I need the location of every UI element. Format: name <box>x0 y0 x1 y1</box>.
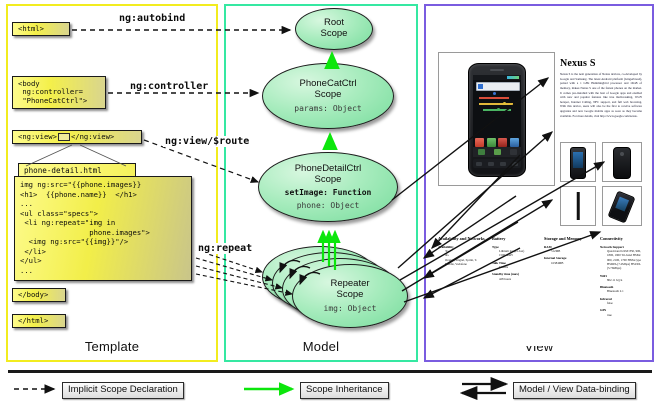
legend-label-databinding: Model / View Data-binding <box>513 382 636 399</box>
spec-value-carriers: Orange, Singtel, Sprint, T-Mobile, Vodaf… <box>445 258 486 267</box>
scope-phonedetailctrl-prop-setimage: setImage: Function <box>285 188 372 197</box>
scope-repeater: Repeater Scope img: Object <box>292 264 408 328</box>
scope-repeater-prop: img: Object <box>324 304 377 313</box>
scope-phonecatctrl-prop: params: Object <box>294 104 361 113</box>
ngview-open-tag: <ng:view> <box>18 132 57 141</box>
thumbnail-angled[interactable] <box>602 186 642 226</box>
label-ng-repeat: ng:repeat <box>196 243 254 254</box>
scope-phonedetailctrl-title-line1: PhoneDetailCtrl <box>295 163 362 174</box>
scope-root-title: Root Scope <box>321 18 348 39</box>
key-search <box>500 162 506 166</box>
phone-detail-card-tab: phone-detail.html <box>18 163 136 177</box>
legend-divider <box>8 370 652 373</box>
key-home <box>512 162 518 166</box>
spec-value-standby: 428 hours <box>499 277 540 281</box>
phone-detail-code: img ng:src="{{phone.images}} <h1> {{phon… <box>14 176 192 281</box>
phone-screen-line-red <box>479 97 509 99</box>
spec-column-connectivity: Connectivity Network Support Quad-band G… <box>600 236 644 317</box>
key-back <box>476 162 482 166</box>
spec-value-infrared: false <box>607 301 644 305</box>
code-box-html-open: <html> <box>12 22 70 36</box>
phone-earpiece <box>490 69 504 71</box>
scope-phonedetailctrl-prop-phone: phone: Object <box>297 201 360 210</box>
label-ng-controller: ng:controller <box>128 81 210 92</box>
diagram-root: Template Model View <html> <body ng:cont… <box>0 0 660 420</box>
scope-repeater-title-line1: Repeater <box>330 278 369 289</box>
spec-value-wifi: 802.11 b/g/n <box>607 278 644 282</box>
scope-phonecatctrl-title-line1: PhoneCatCtrl <box>299 78 356 89</box>
scope-phonedetailctrl-title-line2: Scope <box>315 174 342 185</box>
scope-phonedetailctrl: PhoneDetailCtrl Scope setImage: Function… <box>258 152 398 222</box>
spec-heading-connectivity: Connectivity <box>600 236 644 242</box>
spec-value-network: Quad-band GSM: 850, 900, 1800, 1900 Tri-… <box>607 249 644 271</box>
phone-screen-dot-green <box>497 108 500 111</box>
spec-table: Availability and Networks Availability 3… <box>436 236 640 312</box>
ngview-close-tag: </ng:view> <box>71 132 114 141</box>
phone-thumb-front-image <box>570 147 586 179</box>
google-icon <box>478 84 483 89</box>
spec-heading-battery: Battery <box>492 236 540 242</box>
scope-phonedetailctrl-prop-setimage-text: setImage: Function <box>285 188 372 197</box>
phone-screen-dot-yellow <box>503 102 506 105</box>
label-ng-autobind: ng:autobind <box>117 13 187 24</box>
scope-root-title-line2: Scope <box>321 28 348 39</box>
spec-value-talk-time: 6 hours <box>499 265 540 269</box>
spec-value-ram: 512MB <box>551 249 598 253</box>
scope-phonecatctrl: PhoneCatCtrl Scope params: Object <box>262 63 394 129</box>
spec-column-storage: Storage and Memory RAM 512MB Internal St… <box>544 236 598 265</box>
phone-statusbar <box>473 75 521 80</box>
scope-root-title-line1: Root <box>324 17 344 28</box>
code-box-html-close: </html> <box>12 314 66 328</box>
phone-hero-image-frame <box>438 52 555 186</box>
ngview-slot-icon <box>58 133 70 141</box>
scope-phonecatctrl-title-line2: Scope <box>315 89 342 100</box>
thumbnail-edge[interactable] <box>560 186 596 226</box>
phone-detail-card: phone-detail.html img ng:src="{{phone.im… <box>14 163 192 281</box>
scope-phonecatctrl-title: PhoneCatCtrl Scope <box>299 79 356 100</box>
nav-icon-apps <box>494 149 501 155</box>
product-description: Nexus S is the next generation of Nexus … <box>560 72 642 118</box>
thumbnail-front[interactable] <box>560 142 596 182</box>
key-menu <box>488 162 494 166</box>
app-icon-3 <box>498 138 507 147</box>
column-label-model: Model <box>226 339 416 354</box>
nav-icon-browser <box>510 149 517 155</box>
column-label-template: Template <box>8 339 216 354</box>
scope-repeater-title-line2: Scope <box>337 289 364 300</box>
phone-browser-urlbar <box>476 82 520 91</box>
product-title: Nexus S <box>560 58 596 69</box>
phone-hero-image <box>468 63 526 177</box>
phone-thumb-back-image <box>613 147 631 179</box>
nav-icon-phone <box>478 149 485 155</box>
phone-screen-line-yellow <box>479 103 513 105</box>
spec-value-bluetooth: Bluetooth 2.1 <box>607 289 644 293</box>
app-icon-2 <box>487 138 496 147</box>
legend-label-inheritance: Scope Inheritance <box>300 382 389 399</box>
spec-value-battery-capacity: 1500 mAH <box>499 253 540 257</box>
legend-label-implicit: Implicit Scope Declaration <box>62 382 184 399</box>
spec-value-internal-storage: 16384MB <box>551 261 598 265</box>
spec-column-battery: Battery Type Lithium Ion (Li-Ion) 1500 m… <box>492 236 540 281</box>
scope-phonedetailctrl-title: PhoneDetailCtrl Scope <box>295 164 362 185</box>
phone-nav-row <box>473 147 521 157</box>
phone-screen <box>473 75 521 153</box>
code-box-ngview: <ng:view></ng:view> <box>12 130 142 144</box>
scope-root: Root Scope <box>295 8 373 50</box>
phone-hardware-keys <box>473 159 521 168</box>
scope-repeater-title: Repeater Scope <box>330 279 369 300</box>
phone-thumb-angled-image <box>607 190 635 223</box>
spec-heading-availability: Availability and Networks <box>438 236 486 242</box>
legend: Implicit Scope Declaration Scope Inherit… <box>0 366 660 420</box>
code-box-body-open: <body ng:controller= "PhoneCatCtrl"> <box>12 76 106 109</box>
phone-screen-dot-blue <box>493 92 496 95</box>
camera-icon <box>620 152 624 156</box>
phone-thumb-edge-image <box>577 192 580 220</box>
label-ng-view-route: ng:view/$route <box>163 136 251 147</box>
app-icon-4 <box>510 138 519 147</box>
phone-thumb-angled-screen <box>615 197 629 212</box>
thumbnail-back[interactable] <box>602 142 642 182</box>
phone-thumb-front-screen <box>573 152 583 168</box>
code-box-body-close: </body> <box>12 288 66 302</box>
app-icon-1 <box>475 138 484 147</box>
rendered-view-page: Nexus S Nexus S is the next generation o… <box>432 14 646 346</box>
spec-column-availability: Availability and Networks Availability 3… <box>438 236 486 266</box>
spec-heading-storage: Storage and Memory <box>544 236 598 242</box>
spec-value-gps: true <box>607 313 644 317</box>
phone-statusbar-indicators <box>507 76 519 79</box>
